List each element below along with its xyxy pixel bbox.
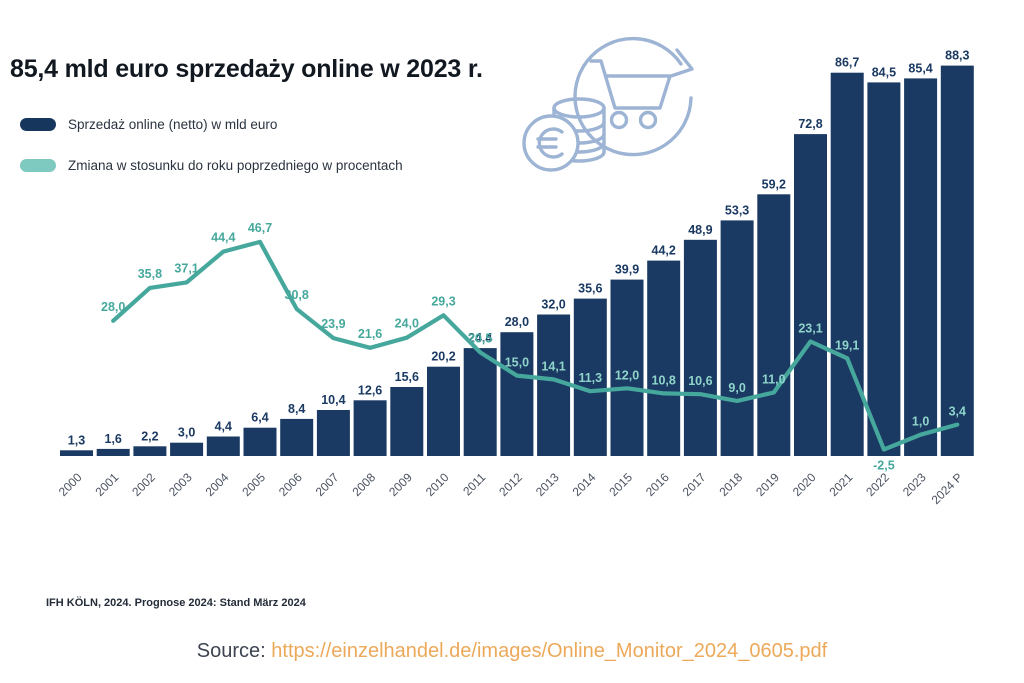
- bar-value-label: 72,8: [798, 117, 822, 131]
- line-value-label: 19,1: [835, 338, 859, 352]
- bar-value-label: 35,6: [578, 282, 602, 296]
- x-axis-tick-label: 2017: [680, 470, 709, 499]
- bar: [757, 194, 790, 456]
- x-axis-tick-label: 2002: [129, 470, 158, 499]
- bar-value-label: 1,6: [105, 432, 122, 446]
- x-axis-tick-label: 2010: [423, 470, 452, 499]
- line-value-label: 20,5: [468, 331, 492, 345]
- bar-value-label: 2,2: [141, 429, 158, 443]
- x-axis-tick-label: 2012: [496, 470, 525, 499]
- x-axis-tick-label: 2000: [56, 470, 85, 499]
- bar: [647, 261, 680, 456]
- chart-canvas: 1,31,62,23,04,46,48,410,412,615,620,224,…: [0, 0, 1024, 560]
- x-axis-tick-label: 2004: [203, 470, 232, 499]
- x-axis-tick-label: 2003: [166, 470, 195, 499]
- x-axis-tick-label: 2008: [349, 470, 378, 499]
- line-value-label: 44,4: [211, 231, 235, 245]
- bar: [500, 332, 533, 456]
- bar-value-label: 28,0: [505, 315, 529, 329]
- line-value-label: 11,3: [578, 371, 602, 385]
- line-value-label: 3,4: [949, 405, 966, 419]
- change-line: [113, 242, 957, 450]
- bar: [794, 134, 827, 456]
- line-value-label: 30,8: [285, 288, 309, 302]
- x-axis-tick-label: 2016: [643, 470, 672, 499]
- bar-value-label: 10,4: [321, 393, 345, 407]
- x-axis-tick-label: 2024 P: [929, 470, 966, 507]
- bar-value-label: 86,7: [835, 56, 859, 70]
- x-axis-tick-label: 2001: [93, 470, 122, 499]
- x-axis-tick-label: 2018: [716, 470, 745, 499]
- bar-value-label: 85,4: [908, 61, 932, 75]
- line-value-label: 14,1: [541, 359, 565, 373]
- bar: [97, 449, 130, 456]
- source-prefix: Source:: [197, 640, 266, 662]
- bar-value-label: 1,3: [68, 433, 85, 447]
- bar-value-label: 15,6: [395, 370, 419, 384]
- line-value-label: 24,0: [395, 317, 419, 331]
- line-value-label: 23,1: [798, 322, 822, 336]
- bar: [684, 240, 717, 456]
- bar-value-label: 44,2: [652, 244, 676, 258]
- bar: [941, 66, 974, 456]
- x-axis-tick-label: 2022: [863, 470, 892, 499]
- bar: [60, 450, 93, 456]
- bar: [207, 437, 240, 457]
- bar: [904, 78, 937, 456]
- line-value-label: -2,5: [873, 459, 895, 473]
- x-axis-tick-label: 2013: [533, 470, 562, 499]
- bar-value-label: 32,0: [541, 298, 565, 312]
- line-value-label: 28,0: [101, 300, 125, 314]
- bar-value-label: 12,6: [358, 383, 382, 397]
- bar: [831, 73, 864, 456]
- bar-value-label: 6,4: [251, 411, 268, 425]
- bar-value-label: 84,5: [872, 65, 896, 79]
- line-value-label: 15,0: [505, 356, 529, 370]
- bar-value-label: 88,3: [945, 49, 969, 63]
- x-axis-tick-label: 2021: [827, 470, 856, 499]
- x-axis-tick-label: 2019: [753, 470, 782, 499]
- line-value-label: 46,7: [248, 221, 272, 235]
- line-value-label: 21,6: [358, 327, 382, 341]
- line-value-label: 10,6: [688, 374, 712, 388]
- bar-value-label: 20,2: [431, 350, 455, 364]
- bar: [280, 419, 313, 456]
- bar-value-label: 39,9: [615, 263, 639, 277]
- line-value-label: 12,0: [615, 368, 639, 382]
- line-value-label: 11,0: [762, 373, 786, 387]
- bar: [867, 82, 900, 456]
- bar-value-label: 53,3: [725, 203, 749, 217]
- bar: [721, 220, 754, 456]
- x-axis-tick-label: 2009: [386, 470, 415, 499]
- bar-value-label: 59,2: [762, 177, 786, 191]
- x-axis-tick-label: 2005: [239, 470, 268, 499]
- x-axis-tick-label: 2020: [790, 470, 819, 499]
- bar-value-label: 3,0: [178, 426, 195, 440]
- line-value-label: 37,1: [174, 261, 198, 275]
- bar: [317, 410, 350, 456]
- line-value-label: 35,8: [138, 267, 162, 281]
- bar: [133, 446, 166, 456]
- x-axis-tick-label: 2014: [570, 470, 599, 499]
- line-value-label: 9,0: [728, 381, 745, 395]
- line-value-label: 23,9: [321, 317, 345, 331]
- source-line: Source: https://einzelhandel.de/images/O…: [0, 640, 1024, 663]
- bar: [170, 443, 203, 456]
- x-axis-tick-label: 2007: [313, 470, 342, 499]
- bar: [354, 400, 387, 456]
- bar: [244, 428, 277, 456]
- chart-plot-area: 1,31,62,23,04,46,48,410,412,615,620,224,…: [0, 0, 1024, 560]
- bar-value-label: 4,4: [215, 420, 232, 434]
- line-value-label: 29,3: [431, 294, 455, 308]
- bar-value-label: 48,9: [688, 223, 712, 237]
- bar-value-label: 8,4: [288, 402, 305, 416]
- bar: [464, 348, 497, 456]
- line-value-label: 1,0: [912, 415, 929, 429]
- source-url[interactable]: https://einzelhandel.de/images/Online_Mo…: [271, 640, 827, 662]
- x-axis-tick-label: 2023: [900, 470, 929, 499]
- x-axis-tick-label: 2006: [276, 470, 305, 499]
- bar: [390, 387, 423, 456]
- chart-page: 85,4 mld euro sprzedaży online w 2023 r.…: [0, 0, 1024, 683]
- bar: [427, 367, 460, 456]
- x-axis-tick-label: 2015: [606, 470, 635, 499]
- line-value-label: 10,8: [652, 373, 676, 387]
- chart-footnote: IFH KÖLN, 2024. Prognose 2024: Stand Mär…: [46, 597, 306, 609]
- x-axis-tick-label: 2011: [460, 470, 488, 498]
